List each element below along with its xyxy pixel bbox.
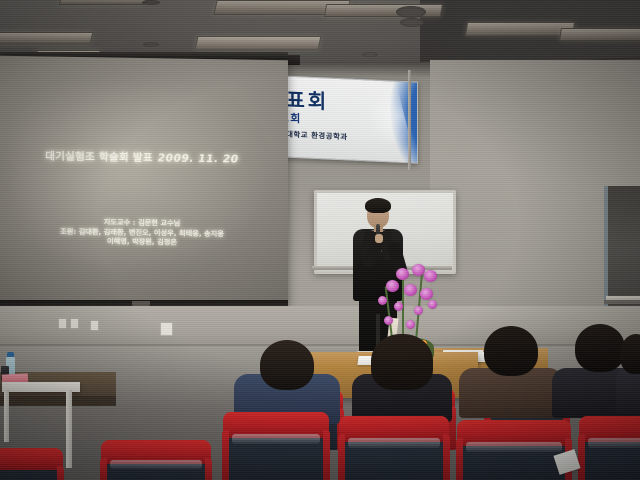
seat-side-left [578, 434, 585, 480]
ceiling-light-panel [0, 32, 93, 44]
orchid-bloom [412, 264, 425, 276]
seat-gloss [466, 442, 562, 452]
orchid-bloom [420, 288, 433, 300]
ceiling-vent [143, 42, 159, 47]
front-seat [462, 428, 566, 480]
orchid-bloom [378, 296, 387, 305]
front-seat [106, 448, 206, 480]
seat-side-left [456, 438, 463, 480]
seat-gloss [110, 460, 202, 469]
seat-side-right [323, 430, 330, 480]
attendee-head [260, 340, 314, 390]
ceiling-light-panel [59, 0, 148, 5]
seat-rim [0, 448, 63, 470]
doorway-rail-shadow [604, 300, 640, 304]
seat-side-left [222, 430, 229, 480]
projection-screen: 대기실험조 학술회 발표2009. 11. 20 지도교수 : 김문현 교수님 … [0, 56, 288, 309]
seat-side-left [338, 434, 345, 480]
ceiling-vent [396, 6, 426, 18]
ceiling-vent [142, 0, 160, 5]
wall-outlet [70, 318, 79, 329]
seat-side-left [100, 458, 107, 480]
orchid-bloom [424, 270, 437, 282]
attendee [616, 332, 640, 412]
front-seat [228, 420, 324, 480]
wall-outlet [58, 318, 67, 329]
orchid-bloom [396, 268, 409, 280]
orchid-bloom [386, 280, 399, 292]
orchid-bloom [406, 320, 415, 329]
orchid-bloom [414, 306, 423, 315]
ceiling-light-panel [195, 36, 322, 50]
lecture-hall-photo: 발표회 발표회 : 대구대학교 환경공학과 대기실험조 학술회 발표2009. … [0, 0, 640, 480]
presenter-hand [375, 234, 383, 243]
attendee [232, 340, 342, 420]
presenter-hair [365, 198, 391, 213]
seat-side-right [57, 466, 64, 480]
orchid-stem [402, 276, 404, 342]
slide-title-text: 대기실험조 학술회 발표 [45, 150, 153, 164]
seat-side-right [205, 458, 212, 480]
attendee-head [371, 334, 433, 390]
orchid-bloom [394, 302, 403, 311]
bottle-cap [7, 352, 14, 357]
ceiling-vent [362, 52, 378, 57]
attendee [348, 334, 456, 418]
wall-outlet [160, 322, 173, 336]
attendee-head [484, 326, 538, 376]
banner-support-pole [408, 70, 411, 170]
front-seat [584, 424, 640, 480]
projector-glow [14, 86, 271, 279]
front-seat [344, 424, 444, 480]
table-leg [4, 390, 9, 442]
orchid-bloom [428, 300, 437, 309]
wall-outlet [90, 320, 99, 331]
ceiling-light-panel [559, 28, 640, 41]
orchid-bloom [384, 316, 393, 325]
seat-side-right [443, 434, 450, 480]
slide-subtext: 지도교수 : 김문현 교수님 조원: 김대환, 김래환, 변진오, 이성우, 최… [0, 216, 288, 249]
table-leg [66, 390, 72, 468]
seat-gloss [348, 438, 440, 448]
stage-edge-shadow [0, 396, 116, 406]
ceiling-light-panel [465, 22, 575, 36]
seat-gloss [588, 438, 640, 448]
ceiling-vent [400, 18, 424, 27]
attendee-head [620, 334, 640, 374]
slide-title-date: 2009. 11. 20 [158, 152, 239, 165]
seat-gloss [232, 434, 320, 444]
attendee [458, 326, 564, 414]
front-seat [0, 456, 58, 480]
orchid-bloom [404, 284, 417, 296]
